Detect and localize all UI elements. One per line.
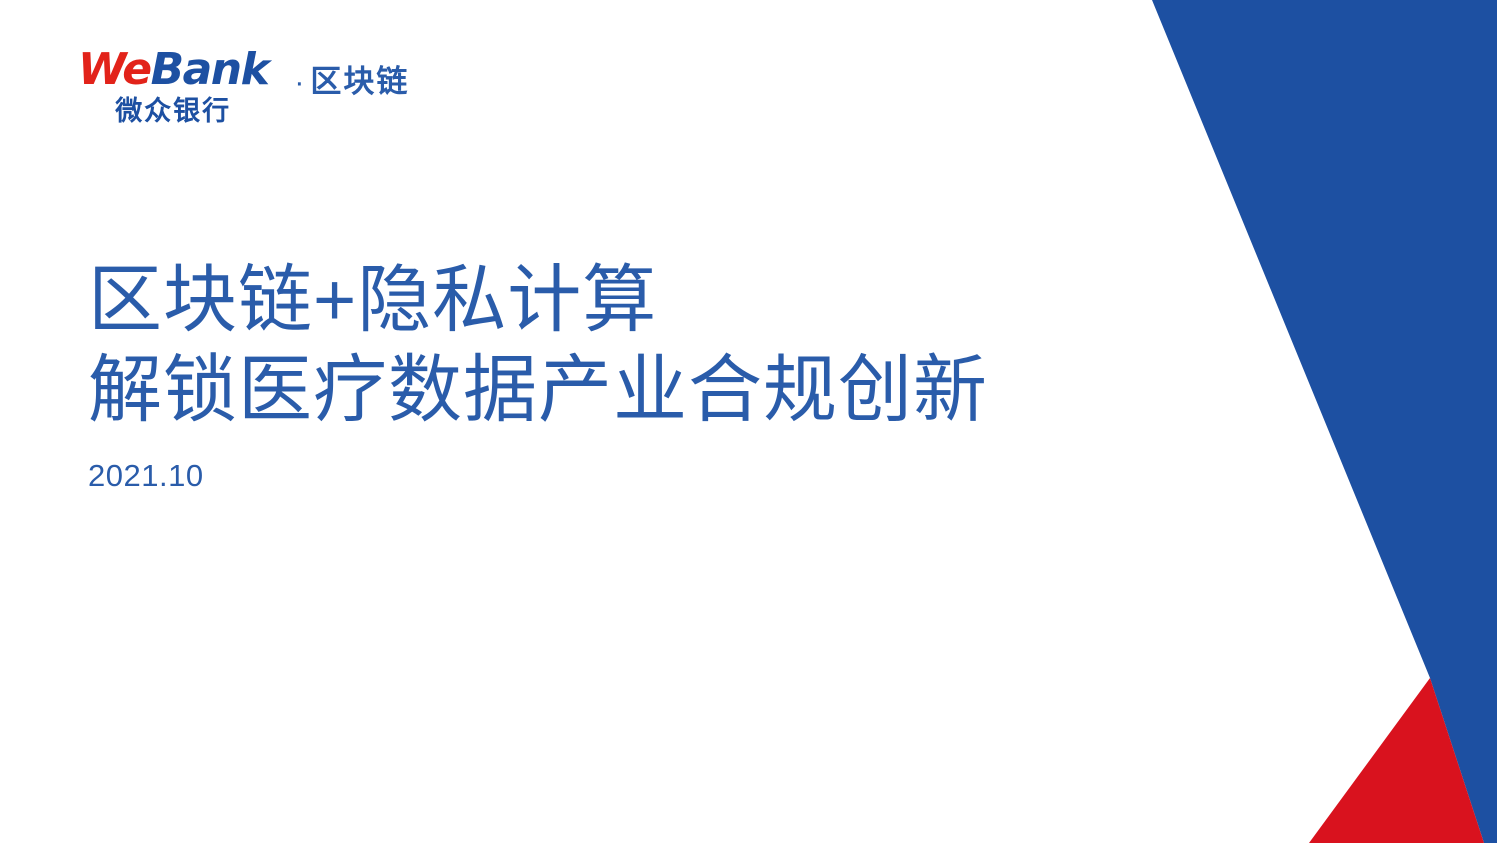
title-slide: WeBank 微众银行 · 区块链 区块链+隐私计算 解锁医疗数据产业合规创新 … — [0, 0, 1497, 843]
red-corner-triangle — [1309, 678, 1484, 843]
wordmark-bank: Bank — [151, 44, 269, 95]
logo-separator-dot: · — [294, 68, 304, 98]
wordmark-we: We — [78, 44, 151, 95]
webank-wordmark: WeBank — [78, 48, 268, 92]
page-title-line-1: 区块链+隐私计算 — [88, 255, 1088, 345]
slide-date: 2021.10 — [88, 458, 1088, 494]
blue-corner-shape — [1152, 0, 1497, 843]
sub-brand-label: 区块链 — [310, 66, 409, 97]
webank-logo: WeBank 微众银行 — [78, 48, 268, 125]
page-title-line-2: 解锁医疗数据产业合规创新 — [88, 345, 1088, 435]
webank-chinese-name: 微众银行 — [115, 98, 231, 125]
title-block: 区块链+隐私计算 解锁医疗数据产业合规创新 2021.10 — [88, 255, 1088, 494]
brand-logo-lockup: WeBank 微众银行 · 区块链 — [78, 48, 409, 125]
